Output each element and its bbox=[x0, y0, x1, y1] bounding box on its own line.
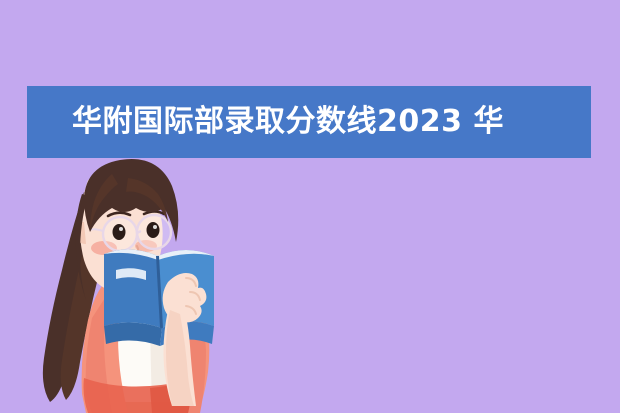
page-title: 华附国际部录取分数线2023 华 bbox=[27, 86, 591, 158]
title-banner: 华附国际部录取分数线2023 华 bbox=[27, 86, 591, 158]
illustration-woman-reading bbox=[0, 150, 300, 413]
article-thumbnail-card: 华附国际部录取分数线2023 华 bbox=[0, 0, 620, 413]
